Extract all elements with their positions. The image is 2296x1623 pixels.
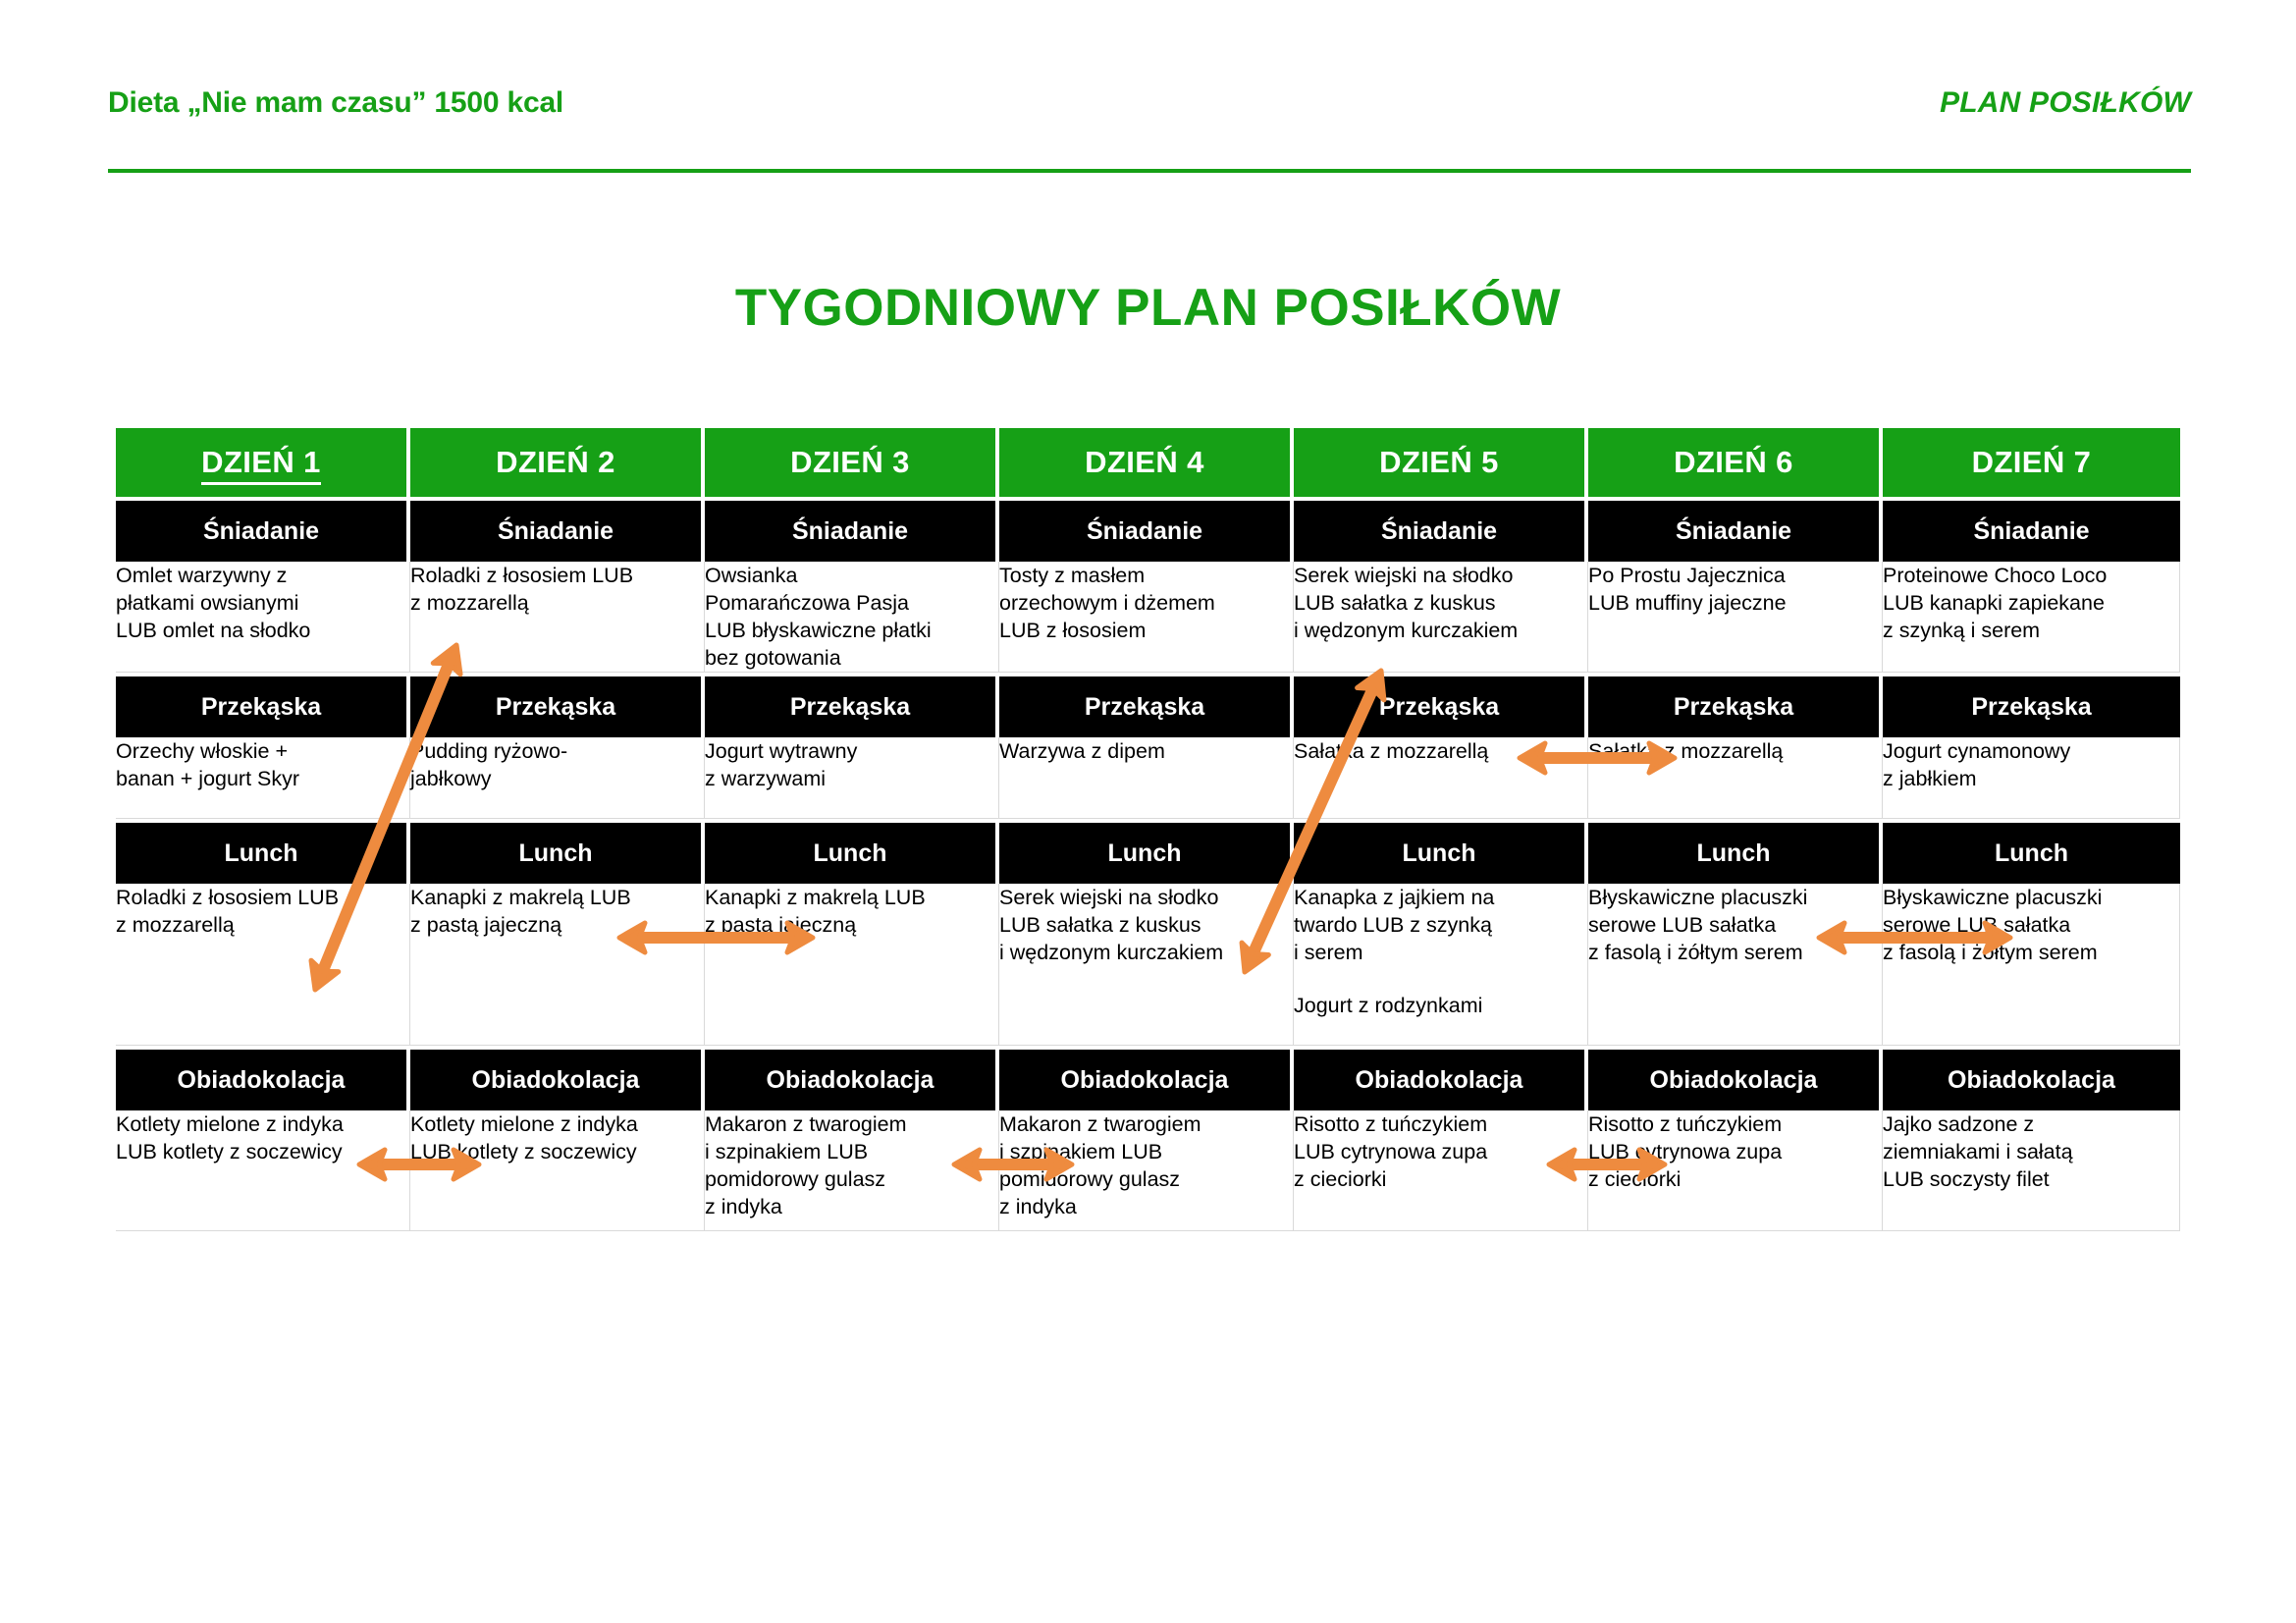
meal-cell-snack-5: Sałatka z mozzarellą: [1294, 737, 1588, 819]
day-header-label: DZIEŃ 6: [1674, 445, 1793, 479]
meal-label-lunch-3: Lunch: [705, 819, 999, 884]
meal-label-snack-5: Przekąska: [1294, 673, 1588, 737]
meal-label-lunch-6: Lunch: [1588, 819, 1883, 884]
meal-cell-dinner-2: Kotlety mielone z indykaLUB kotlety z so…: [410, 1110, 705, 1231]
meal-cell-lunch-2: Kanapki z makrelą LUBz pastą jajeczną: [410, 884, 705, 1046]
weekly-meal-plan-table: DZIEŃ 1 DZIEŃ 2 DZIEŃ 3 DZIEŃ 4 DZIEŃ 5 …: [116, 428, 2180, 1231]
document-kicker: PLAN POSIŁKÓW: [1940, 86, 2191, 120]
meal-text: Risotto z tuńczykiemLUB cytrynowa zupaz …: [1294, 1110, 1587, 1193]
day-header-1[interactable]: DZIEŃ 1: [116, 428, 410, 497]
meal-text: Roladki z łososiem LUBz mozzarellą: [116, 884, 409, 939]
lunch-label-row: Lunch Lunch Lunch Lunch Lunch Lunch Lunc…: [116, 819, 2180, 884]
meal-label-dinner-6: Obiadokolacja: [1588, 1046, 1883, 1110]
meal-cell-snack-6: Sałatka z mozzarellą: [1588, 737, 1883, 819]
meal-text: Jajko sadzone zziemniakami i sałatąLUB s…: [1883, 1110, 2179, 1193]
meal-label-snack-6: Przekąska: [1588, 673, 1883, 737]
meal-cell-dinner-7: Jajko sadzone zziemniakami i sałatąLUB s…: [1883, 1110, 2180, 1231]
meal-text: Błyskawiczne placuszkiserowe LUB sałatka…: [1588, 884, 1882, 966]
meal-cell-dinner-6: Risotto z tuńczykiemLUB cytrynowa zupaz …: [1588, 1110, 1883, 1231]
meal-cell-lunch-4: Serek wiejski na słodkoLUB sałatka z kus…: [999, 884, 1294, 1046]
meal-text: Makaron z twarogiemi szpinakiem LUBpomid…: [705, 1110, 998, 1220]
meal-cell-lunch-3: Kanapki z makrelą LUBz pastą jajeczną: [705, 884, 999, 1046]
meal-label-lunch-2: Lunch: [410, 819, 705, 884]
header-divider: [108, 169, 2191, 173]
meal-cell-breakfast-4: Tosty z masłemorzechowym i dżememLUB z ł…: [999, 562, 1294, 673]
meal-text: Roladki z łososiem LUBz mozzarellą: [410, 562, 704, 617]
lunch-content-row: Roladki z łososiem LUBz mozzarellą Kanap…: [116, 884, 2180, 1046]
meal-text: Kanapki z makrelą LUBz pastą jajeczną: [705, 884, 998, 939]
meal-text: Orzechy włoskie +banan + jogurt Skyr: [116, 737, 409, 792]
meal-text: Po Prostu JajecznicaLUB muffiny jajeczne: [1588, 562, 1882, 617]
meal-label-snack-7: Przekąska: [1883, 673, 2180, 737]
meal-label-lunch-7: Lunch: [1883, 819, 2180, 884]
day-header-row: DZIEŃ 1 DZIEŃ 2 DZIEŃ 3 DZIEŃ 4 DZIEŃ 5 …: [116, 428, 2180, 497]
meal-label-breakfast-3: Śniadanie: [705, 497, 999, 562]
day-header-4[interactable]: DZIEŃ 4: [999, 428, 1294, 497]
meal-cell-lunch-6: Błyskawiczne placuszkiserowe LUB sałatka…: [1588, 884, 1883, 1046]
day-header-2[interactable]: DZIEŃ 2: [410, 428, 705, 497]
meal-cell-snack-7: Jogurt cynamonowyz jabłkiem: [1883, 737, 2180, 819]
day-header-label: DZIEŃ 5: [1379, 445, 1499, 479]
meal-cell-breakfast-1: Omlet warzywny zpłatkami owsianymiLUB om…: [116, 562, 410, 673]
meal-cell-dinner-1: Kotlety mielone z indykaLUB kotlety z so…: [116, 1110, 410, 1231]
meal-text: Kanapki z makrelą LUBz pastą jajeczną: [410, 884, 704, 939]
meal-label-dinner-5: Obiadokolacja: [1294, 1046, 1588, 1110]
meal-label-dinner-2: Obiadokolacja: [410, 1046, 705, 1110]
meal-label-lunch-1: Lunch: [116, 819, 410, 884]
meal-cell-lunch-1: Roladki z łososiem LUBz mozzarellą: [116, 884, 410, 1046]
meal-cell-snack-4: Warzywa z dipem: [999, 737, 1294, 819]
meal-text: Risotto z tuńczykiemLUB cytrynowa zupaz …: [1588, 1110, 1882, 1193]
meal-cell-breakfast-2: Roladki z łososiem LUBz mozzarellą: [410, 562, 705, 673]
meal-label-dinner-3: Obiadokolacja: [705, 1046, 999, 1110]
meal-text: Tosty z masłemorzechowym i dżememLUB z ł…: [999, 562, 1293, 644]
day-header-6[interactable]: DZIEŃ 6: [1588, 428, 1883, 497]
meal-text: Pudding ryżowo-jabłkowy: [410, 737, 704, 792]
day-header-label: DZIEŃ 7: [1972, 445, 2092, 479]
meal-text: Proteinowe Choco LocoLUB kanapki zapieka…: [1883, 562, 2179, 644]
day-header-7[interactable]: DZIEŃ 7: [1883, 428, 2180, 497]
snack-content-row: Orzechy włoskie +banan + jogurt Skyr Pud…: [116, 737, 2180, 819]
day-header-label: DZIEŃ 2: [496, 445, 615, 479]
meal-text: Omlet warzywny zpłatkami owsianymiLUB om…: [116, 562, 409, 644]
meal-label-snack-4: Przekąska: [999, 673, 1294, 737]
meal-cell-dinner-5: Risotto z tuńczykiemLUB cytrynowa zupaz …: [1294, 1110, 1588, 1231]
meal-label-breakfast-4: Śniadanie: [999, 497, 1294, 562]
meal-text: Kotlety mielone z indykaLUB kotlety z so…: [410, 1110, 704, 1165]
meal-label-snack-1: Przekąska: [116, 673, 410, 737]
page-title: TYGODNIOWY PLAN POSIŁKÓW: [0, 278, 2296, 338]
meal-label-dinner-4: Obiadokolacja: [999, 1046, 1294, 1110]
page-header: Dieta „Nie mam czasu” 1500 kcal PLAN POS…: [108, 86, 2191, 120]
brand-title: Dieta „Nie mam czasu” 1500 kcal: [108, 86, 563, 120]
meal-cell-snack-2: Pudding ryżowo-jabłkowy: [410, 737, 705, 819]
meal-text: Jogurt wytrawnyz warzywami: [705, 737, 998, 792]
meal-label-breakfast-6: Śniadanie: [1588, 497, 1883, 562]
meal-text: Warzywa z dipem: [999, 737, 1293, 765]
meal-cell-breakfast-6: Po Prostu JajecznicaLUB muffiny jajeczne: [1588, 562, 1883, 673]
meal-label-breakfast-5: Śniadanie: [1294, 497, 1588, 562]
meal-label-snack-3: Przekąska: [705, 673, 999, 737]
day-header-label: DZIEŃ 4: [1085, 445, 1204, 479]
breakfast-label-row: Śniadanie Śniadanie Śniadanie Śniadanie …: [116, 497, 2180, 562]
day-header-5[interactable]: DZIEŃ 5: [1294, 428, 1588, 497]
meal-cell-dinner-4: Makaron z twarogiemi szpinakiem LUBpomid…: [999, 1110, 1294, 1231]
meal-cell-snack-1: Orzechy włoskie +banan + jogurt Skyr: [116, 737, 410, 819]
meal-text: Kotlety mielone z indykaLUB kotlety z so…: [116, 1110, 409, 1165]
meal-label-dinner-1: Obiadokolacja: [116, 1046, 410, 1110]
meal-cell-breakfast-7: Proteinowe Choco LocoLUB kanapki zapieka…: [1883, 562, 2180, 673]
meal-cell-breakfast-3: OwsiankaPomarańczowa PasjaLUB błyskawicz…: [705, 562, 999, 673]
meal-cell-breakfast-5: Serek wiejski na słodkoLUB sałatka z kus…: [1294, 562, 1588, 673]
dinner-label-row: Obiadokolacja Obiadokolacja Obiadokolacj…: [116, 1046, 2180, 1110]
day-header-label: DZIEŃ 3: [790, 445, 910, 479]
meal-text: Sałatka z mozzarellą: [1588, 737, 1882, 765]
meal-label-breakfast-1: Śniadanie: [116, 497, 410, 562]
meal-text: Sałatka z mozzarellą: [1294, 737, 1587, 765]
meal-label-lunch-5: Lunch: [1294, 819, 1588, 884]
meal-text: Serek wiejski na słodkoLUB sałatka z kus…: [1294, 562, 1587, 644]
meal-label-dinner-7: Obiadokolacja: [1883, 1046, 2180, 1110]
meal-text: Błyskawiczne placuszkiserowe LUB sałatka…: [1883, 884, 2179, 966]
meal-cell-lunch-7: Błyskawiczne placuszkiserowe LUB sałatka…: [1883, 884, 2180, 1046]
meal-text: Jogurt cynamonowyz jabłkiem: [1883, 737, 2179, 792]
meal-text: Makaron z twarogiemi szpinakiem LUBpomid…: [999, 1110, 1293, 1220]
meal-label-breakfast-7: Śniadanie: [1883, 497, 2180, 562]
day-header-label: DZIEŃ 1: [201, 445, 321, 485]
meal-text: OwsiankaPomarańczowa PasjaLUB błyskawicz…: [705, 562, 998, 672]
dinner-content-row: Kotlety mielone z indykaLUB kotlety z so…: [116, 1110, 2180, 1231]
meal-label-snack-2: Przekąska: [410, 673, 705, 737]
meal-cell-dinner-3: Makaron z twarogiemi szpinakiem LUBpomid…: [705, 1110, 999, 1231]
day-header-3[interactable]: DZIEŃ 3: [705, 428, 999, 497]
meal-text: Jogurt z rodzynkami: [1294, 992, 1587, 1019]
meal-label-lunch-4: Lunch: [999, 819, 1294, 884]
snack-label-row: Przekąska Przekąska Przekąska Przekąska …: [116, 673, 2180, 737]
meal-cell-snack-3: Jogurt wytrawnyz warzywami: [705, 737, 999, 819]
meal-text: Serek wiejski na słodkoLUB sałatka z kus…: [999, 884, 1293, 966]
meal-cell-lunch-5: Kanapka z jajkiem natwardo LUB z szynkąi…: [1294, 884, 1588, 1046]
breakfast-content-row: Omlet warzywny zpłatkami owsianymiLUB om…: [116, 562, 2180, 673]
meal-label-breakfast-2: Śniadanie: [410, 497, 705, 562]
meal-text: Kanapka z jajkiem natwardo LUB z szynkąi…: [1294, 884, 1587, 966]
